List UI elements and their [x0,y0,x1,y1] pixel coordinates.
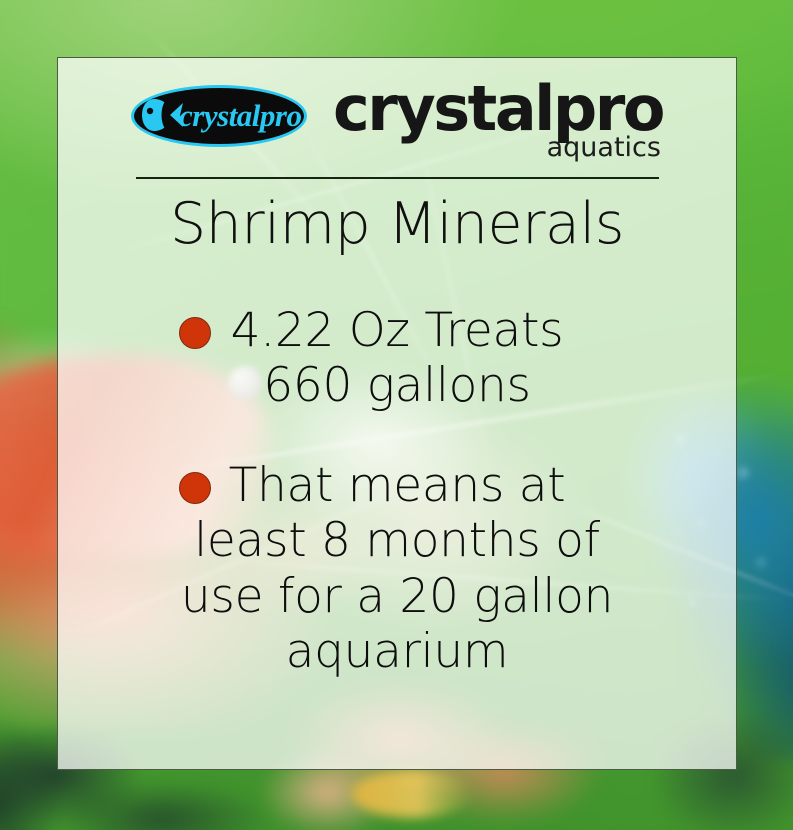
brand-wordmark: crystalpro aquatics [333,79,663,143]
page-title: Shrimp Minerals [170,191,624,257]
brand-name-main: crystalpro [333,79,663,139]
bullet-dot-icon [179,472,211,504]
product-infographic: crystalpro crystalpro aquatics Shrimp Mi… [0,0,793,830]
list-item: 4.22 Oz Treats 660 gallons [91,303,703,414]
brand-header: crystalpro crystalpro aquatics [58,79,736,147]
list-item: That means at least 8 months of use for … [91,458,703,680]
logo-wordmark: crystalpro [179,98,301,134]
bullet-dot-icon [179,317,211,349]
background-food-highlight [352,770,472,818]
header-divider [136,177,659,179]
fish-icon [140,97,184,133]
list-item-text: 4.22 Oz Treats 660 gallons [91,303,703,414]
brand-logo-badge: crystalpro [131,85,307,147]
content-panel: crystalpro crystalpro aquatics Shrimp Mi… [57,57,737,770]
brand-name-sub: aquatics [547,132,661,163]
feature-list: 4.22 Oz Treats 660 gallons That means at… [91,303,703,680]
